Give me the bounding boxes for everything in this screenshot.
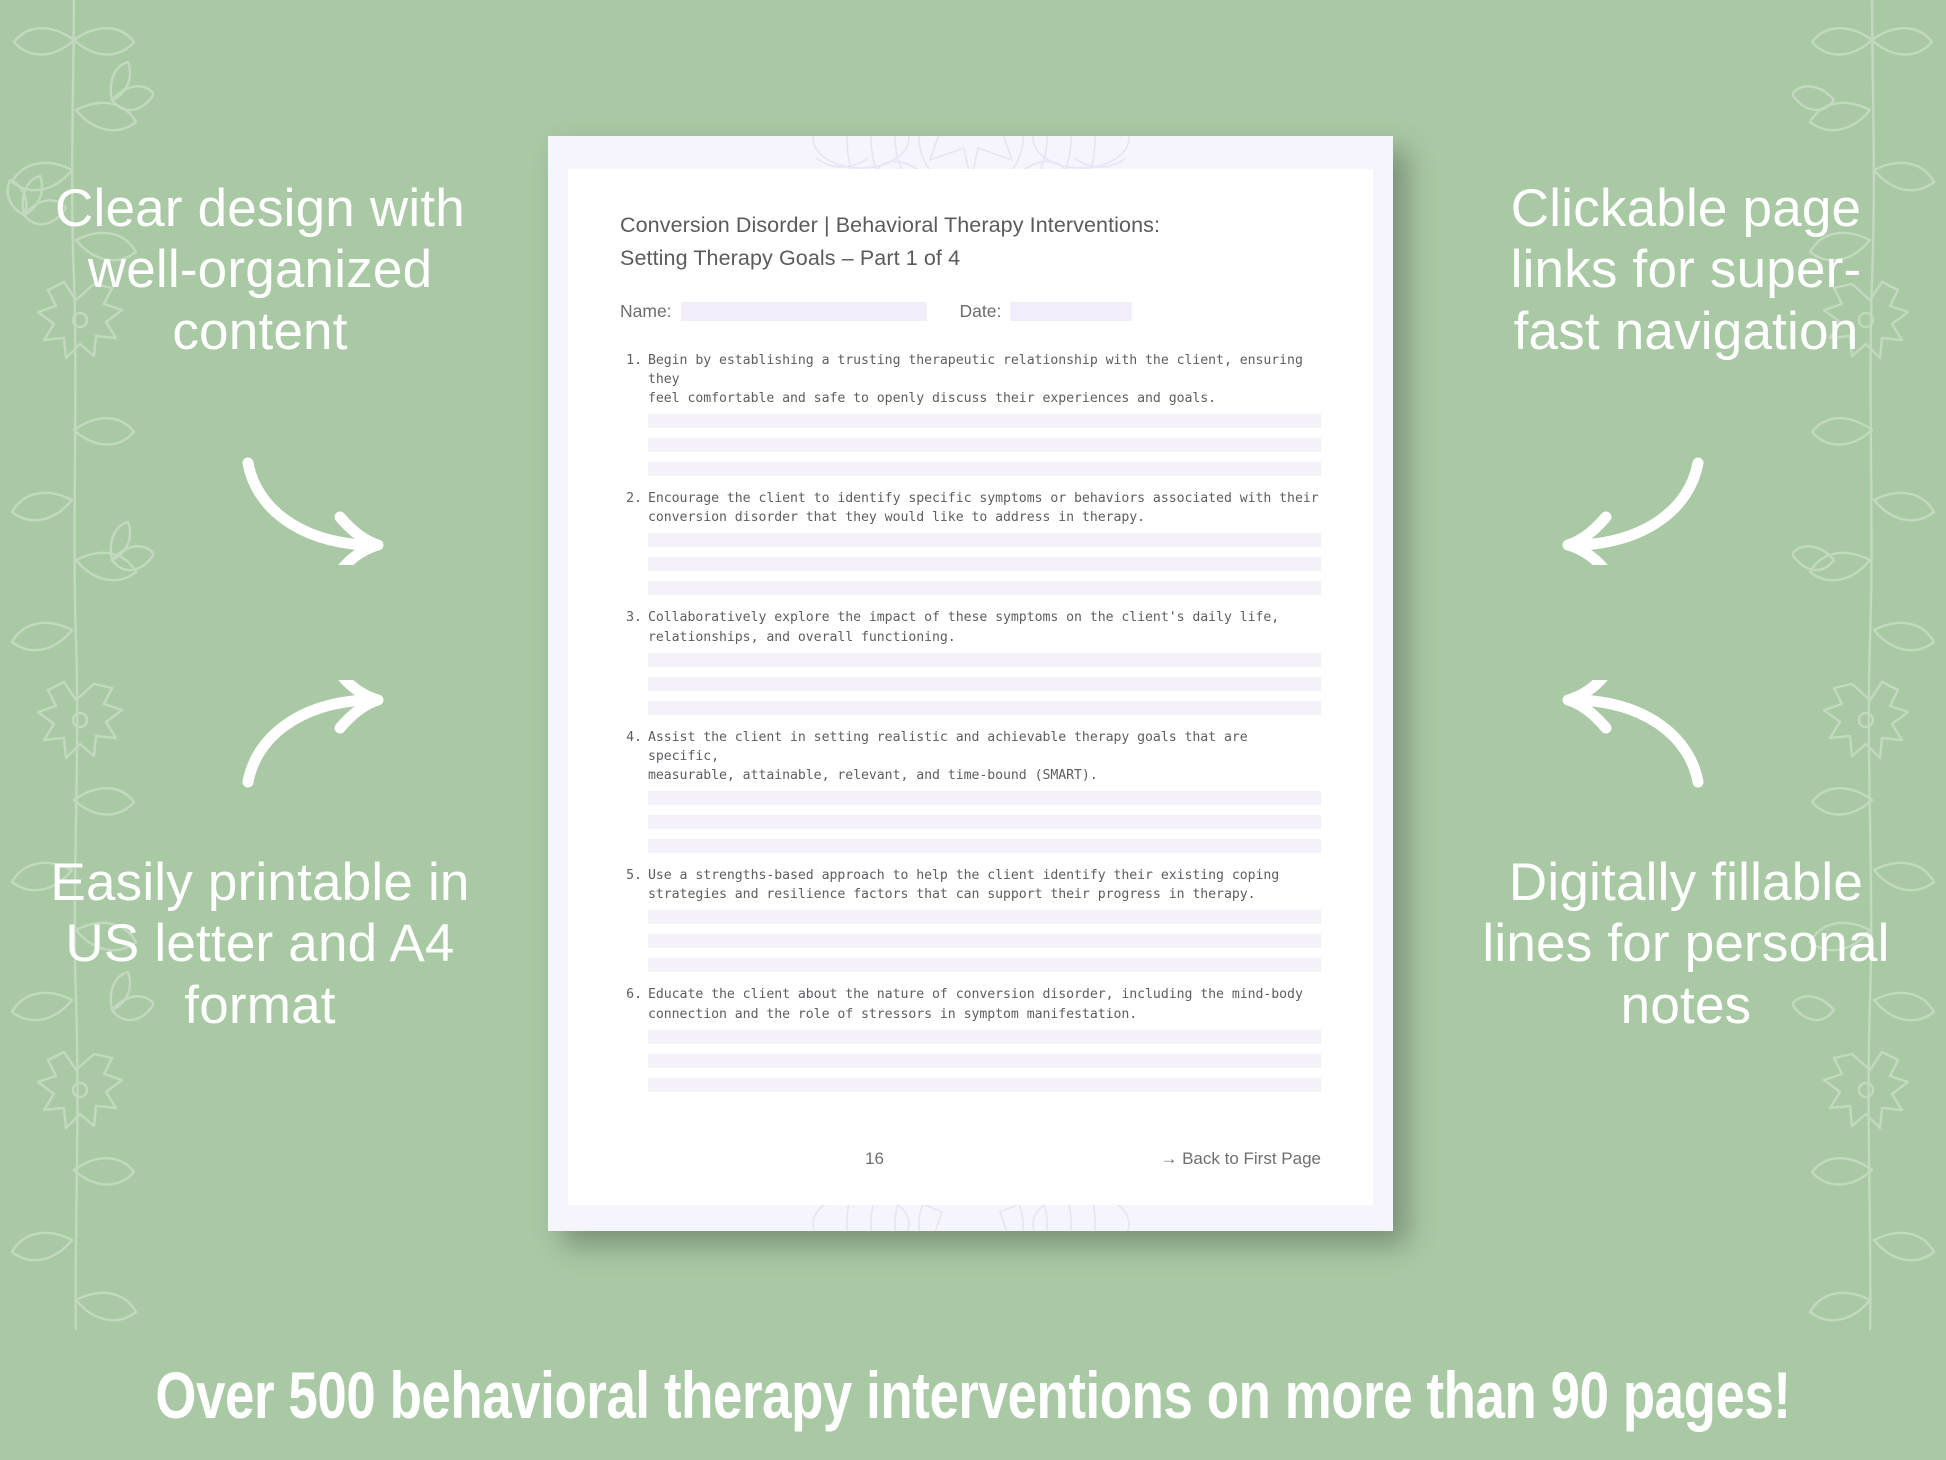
- write-line[interactable]: [648, 677, 1321, 691]
- write-lines-group: [620, 910, 1321, 972]
- write-line[interactable]: [648, 791, 1321, 805]
- arrow-down-right-icon: [240, 455, 400, 570]
- write-line[interactable]: [648, 438, 1321, 452]
- write-line[interactable]: [648, 815, 1321, 829]
- arrow-up-right-icon: [240, 680, 400, 795]
- date-label: Date:: [960, 301, 1002, 322]
- write-lines-group: [620, 653, 1321, 715]
- page-content-area: Conversion Disorder | Behavioral Therapy…: [568, 169, 1373, 1205]
- list-item: 2. Encourage the client to identify spec…: [620, 489, 1321, 595]
- page-footer: 16 → Back to First Page: [620, 1149, 1321, 1169]
- write-line[interactable]: [648, 1078, 1321, 1092]
- write-line[interactable]: [648, 1030, 1321, 1044]
- write-line[interactable]: [648, 581, 1321, 595]
- date-input[interactable]: [1010, 302, 1132, 321]
- list-item-head: 5. Use a strengths-based approach to hel…: [620, 866, 1321, 904]
- list-item-head: 4. Assist the client in setting realisti…: [620, 728, 1321, 785]
- list-item-number: 2.: [620, 489, 648, 508]
- name-date-row: Name: Date:: [620, 301, 1321, 322]
- write-lines-group: [620, 533, 1321, 595]
- write-line[interactable]: [648, 414, 1321, 428]
- list-item-text: Encourage the client to identify specifi…: [648, 489, 1321, 527]
- bottom-banner: Over 500 behavioral therapy intervention…: [0, 1330, 1946, 1460]
- list-item-number: 1.: [620, 351, 648, 370]
- list-item-text: Educate the client about the nature of c…: [648, 985, 1321, 1023]
- write-line[interactable]: [648, 934, 1321, 948]
- list-item: 1. Begin by establishing a trusting ther…: [620, 351, 1321, 476]
- arrow-up-left-icon: [1546, 680, 1706, 795]
- list-item-head: 1. Begin by establishing a trusting ther…: [620, 351, 1321, 408]
- page-title: Conversion Disorder | Behavioral Therapy…: [620, 209, 1321, 275]
- page-number: 16: [865, 1149, 884, 1169]
- name-label: Name:: [620, 301, 672, 322]
- list-item: 3. Collaboratively explore the impact of…: [620, 608, 1321, 714]
- write-lines-group: [620, 791, 1321, 853]
- list-item-text: Assist the client in setting realistic a…: [648, 728, 1321, 785]
- promo-easily-printable: Easily printable in US letter and A4 for…: [50, 852, 470, 1036]
- write-line[interactable]: [648, 533, 1321, 547]
- write-line[interactable]: [648, 839, 1321, 853]
- promo-clickable-links: Clickable page links for super-fast navi…: [1476, 178, 1896, 362]
- promo-clear-design: Clear design with well-organized content: [50, 178, 470, 362]
- list-item-text: Begin by establishing a trusting therape…: [648, 351, 1321, 408]
- list-item-text: Use a strengths-based approach to help t…: [648, 866, 1321, 904]
- list-item-number: 3.: [620, 608, 648, 627]
- write-line[interactable]: [648, 958, 1321, 972]
- list-item-head: 3. Collaboratively explore the impact of…: [620, 608, 1321, 646]
- intervention-list: 1. Begin by establishing a trusting ther…: [620, 351, 1321, 1092]
- list-item-head: 6. Educate the client about the nature o…: [620, 985, 1321, 1023]
- list-item-head: 2. Encourage the client to identify spec…: [620, 489, 1321, 527]
- name-input[interactable]: [681, 302, 927, 321]
- list-item-number: 6.: [620, 985, 648, 1004]
- list-item-text: Collaboratively explore the impact of th…: [648, 608, 1321, 646]
- list-item: 5. Use a strengths-based approach to hel…: [620, 866, 1321, 972]
- list-item-number: 4.: [620, 728, 648, 747]
- promo-fillable-lines: Digitally fillable lines for personal no…: [1476, 852, 1896, 1036]
- list-item: 6. Educate the client about the nature o…: [620, 985, 1321, 1091]
- write-lines-group: [620, 414, 1321, 476]
- write-line[interactable]: [648, 701, 1321, 715]
- banner-text: Over 500 behavioral therapy intervention…: [155, 1357, 1790, 1433]
- list-item: 4. Assist the client in setting realisti…: [620, 728, 1321, 853]
- back-to-first-page-link[interactable]: → Back to First Page: [1160, 1149, 1321, 1169]
- worksheet-page[interactable]: Conversion Disorder | Behavioral Therapy…: [548, 136, 1393, 1231]
- write-line[interactable]: [648, 910, 1321, 924]
- write-line[interactable]: [648, 462, 1321, 476]
- arrow-down-left-icon: [1546, 455, 1706, 570]
- write-line[interactable]: [648, 1054, 1321, 1068]
- list-item-number: 5.: [620, 866, 648, 885]
- write-line[interactable]: [648, 557, 1321, 571]
- write-line[interactable]: [648, 653, 1321, 667]
- write-lines-group: [620, 1030, 1321, 1092]
